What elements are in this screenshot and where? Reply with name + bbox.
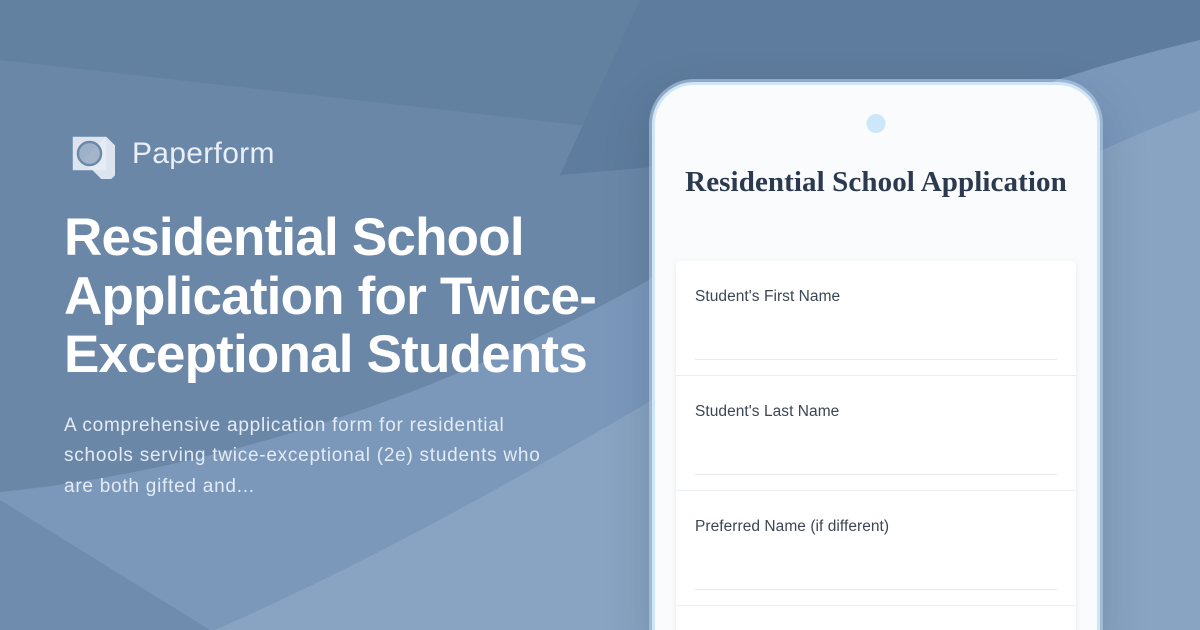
- form-card: Student's First Name Student's Last Name…: [676, 261, 1076, 630]
- paperform-star-logo-icon: [64, 128, 115, 179]
- brand-name: Paperform: [132, 139, 275, 169]
- page-subtitle: A comprehensive application form for res…: [64, 411, 564, 502]
- field-label: Preferred Name (if different): [695, 517, 1057, 537]
- og-image-canvas: Paperform Residential School Application…: [0, 0, 1200, 630]
- field-label: Student's Last Name: [695, 402, 1057, 422]
- page-title: Residential School Application for Twice…: [64, 209, 604, 385]
- form-field-last-name[interactable]: Student's Last Name: [676, 376, 1076, 491]
- facet-right-lower: [1085, 318, 1200, 575]
- field-label: Student's First Name: [695, 287, 1057, 307]
- facet-right-mid: [1085, 95, 1200, 345]
- facet-right-bottom: [1085, 548, 1200, 630]
- brand-lockup: Paperform: [64, 128, 624, 179]
- field-input-underline[interactable]: [695, 589, 1057, 590]
- field-input-underline[interactable]: [695, 359, 1057, 360]
- form-title: Residential School Application: [685, 165, 1067, 201]
- form-field-partially-visible[interactable]: D: [676, 606, 1076, 630]
- field-input-underline[interactable]: [695, 474, 1057, 475]
- form-field-preferred-name[interactable]: Preferred Name (if different): [676, 491, 1076, 606]
- camera-dot-icon: [867, 114, 886, 133]
- form-field-first-name[interactable]: Student's First Name: [676, 261, 1076, 376]
- phone-mockup: Residential School Application Student's…: [652, 82, 1100, 630]
- hero-content: Paperform Residential School Application…: [64, 0, 624, 630]
